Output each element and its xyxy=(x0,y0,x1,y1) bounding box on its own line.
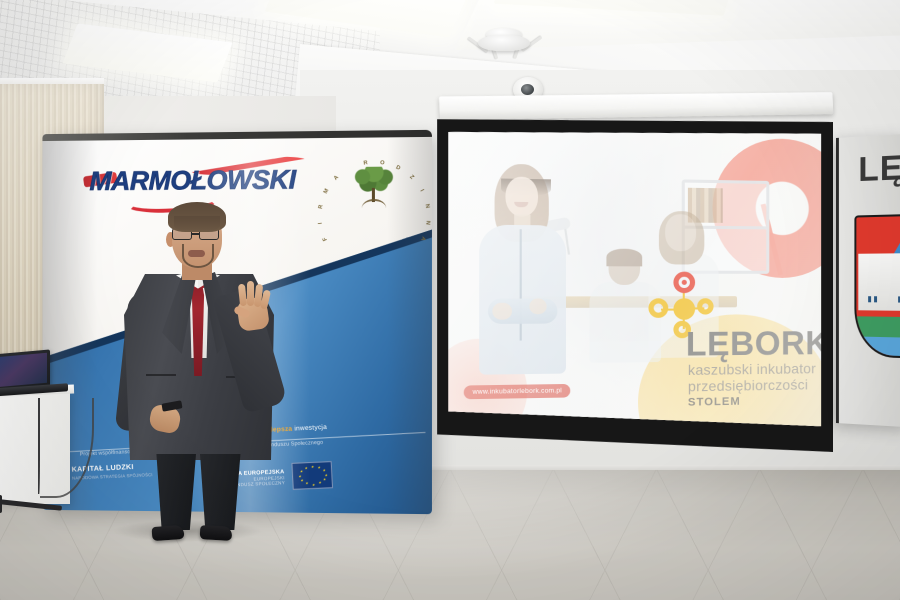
presenter xyxy=(124,206,274,536)
node-yellow-left-icon xyxy=(648,298,668,318)
presenter-hair xyxy=(168,202,226,232)
slide-brand-name: STOLEM xyxy=(688,396,741,409)
node-yellow-right-icon xyxy=(697,298,713,314)
presenter-shoe-left xyxy=(152,525,185,541)
screen-surface: LĘBORK kaszubski inkubator przedsiębiorc… xyxy=(448,125,821,435)
slide-url-badge: www.inkubatorlebork.com.pl xyxy=(464,384,571,399)
node-center-icon xyxy=(673,298,695,320)
projected-slide: LĘBORK kaszubski inkubator przedsiębiorc… xyxy=(448,125,821,435)
smoke-detector-icon xyxy=(468,28,540,64)
presenter-mouth xyxy=(188,250,205,257)
slide-foreground-woman xyxy=(477,163,568,374)
laptop[interactable] xyxy=(0,352,70,400)
conference-room-scene: MARMOŁOWSKI FIRMA RODZINNA człowiek najl… xyxy=(0,0,900,600)
projection-screen: LĘBORK kaszubski inkubator przedsiębiorc… xyxy=(437,112,833,463)
poster-title: LĘ xyxy=(858,148,900,190)
presenter-shoe-right xyxy=(200,525,233,541)
stand-legs xyxy=(0,494,76,516)
lebork-coat-of-arms-icon xyxy=(854,213,900,359)
presenter-pocket-left xyxy=(146,374,176,376)
presenter-right-hand xyxy=(234,284,272,332)
laptop-screen[interactable] xyxy=(0,353,47,388)
slide-title: LĘBORK xyxy=(686,324,821,364)
presenter-legs xyxy=(148,454,252,536)
node-red-icon xyxy=(673,272,695,294)
lebork-poster: LĘ xyxy=(836,134,900,428)
slide-subtitle-line-1: kaszubski inkubator xyxy=(688,360,816,378)
slide-subtitle-line-2: przedsiębiorczości xyxy=(688,376,808,394)
banner-right-shading xyxy=(387,137,432,514)
